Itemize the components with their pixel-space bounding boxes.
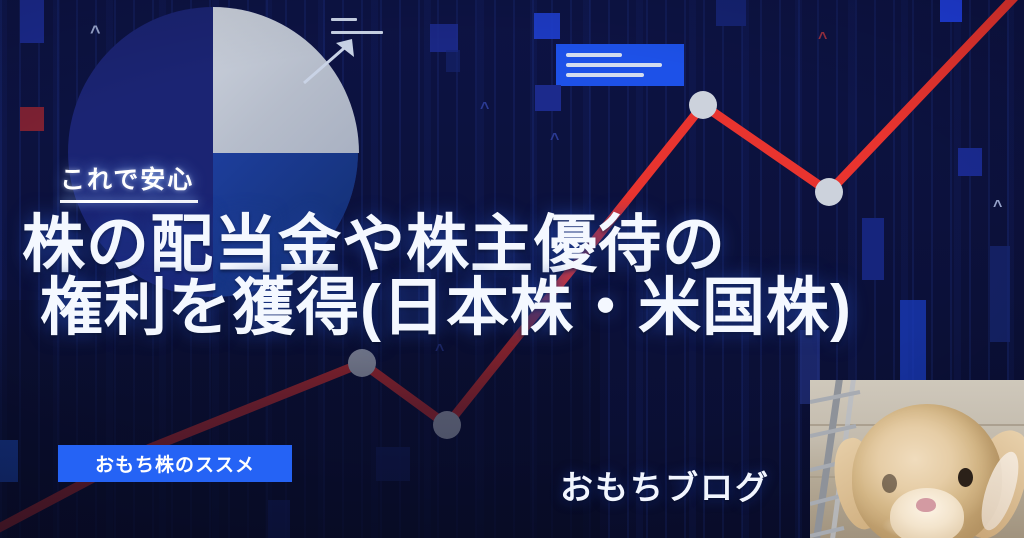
- rabbit-photo: [810, 380, 1024, 538]
- rabbit-left-eye: [882, 474, 897, 493]
- rabbit-snout: [890, 488, 964, 538]
- status-badge: おもち株のススメ: [58, 445, 292, 482]
- kicker-text: これで安心: [60, 160, 194, 203]
- eyecatch-banner: ^ ^ ^ ^ ^ ^ これで安心 株の配当金や株主優待の 権利を獲得(日本株・…: [0, 0, 1024, 538]
- site-name: おもちブログ: [560, 461, 770, 509]
- title-line-2: 権利を獲得(日本株・米国株): [22, 277, 1022, 340]
- rabbit-right-eye: [958, 468, 973, 487]
- rabbit-nose: [916, 498, 936, 512]
- page-title: 株の配当金や株主優待の 権利を獲得(日本株・米国株): [22, 214, 1022, 340]
- title-line-1: 株の配当金や株主優待の: [22, 210, 726, 280]
